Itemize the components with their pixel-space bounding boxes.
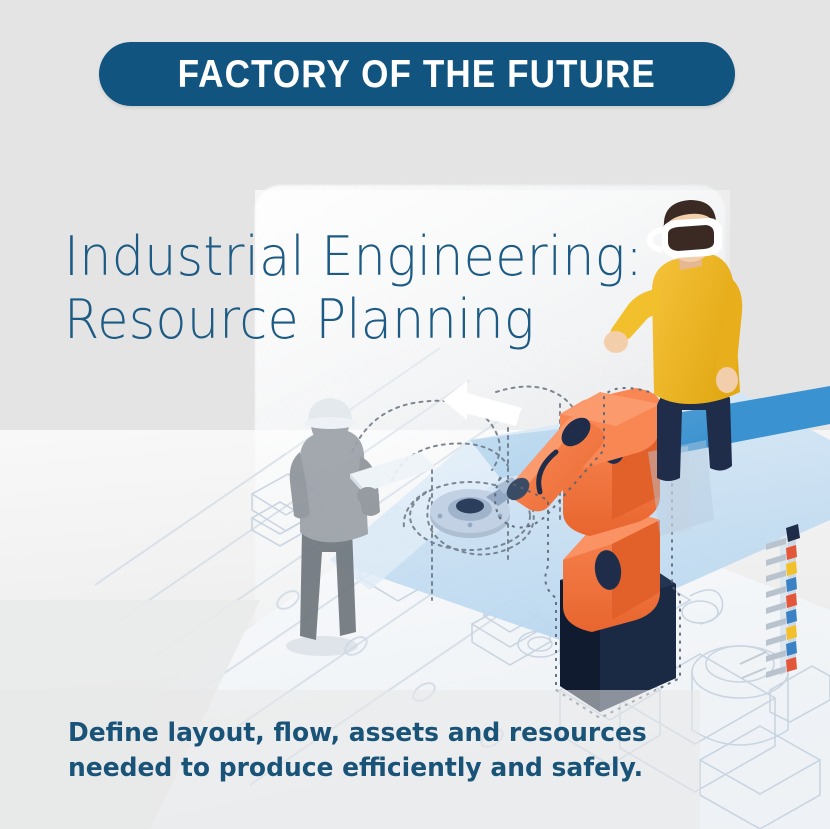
page-title-line2: Resource Planning bbox=[64, 288, 647, 351]
illustration bbox=[0, 0, 830, 829]
header-badge-label: FACTORY OF THE FUTURE bbox=[178, 55, 656, 94]
page-title-line1: Industrial Engineering: bbox=[64, 225, 647, 288]
slide-root: FACTORY OF THE FUTURE Industrial Enginee… bbox=[0, 0, 830, 829]
header-badge: FACTORY OF THE FUTURE bbox=[99, 42, 735, 106]
page-caption: Define layout, flow, assets and resource… bbox=[68, 716, 708, 785]
page-title: Industrial Engineering: Resource Plannin… bbox=[64, 225, 684, 351]
page-caption-line1: Define layout, flow, assets and resource… bbox=[68, 716, 682, 751]
page-caption-line2: needed to produce efficiently and safely… bbox=[68, 751, 682, 786]
